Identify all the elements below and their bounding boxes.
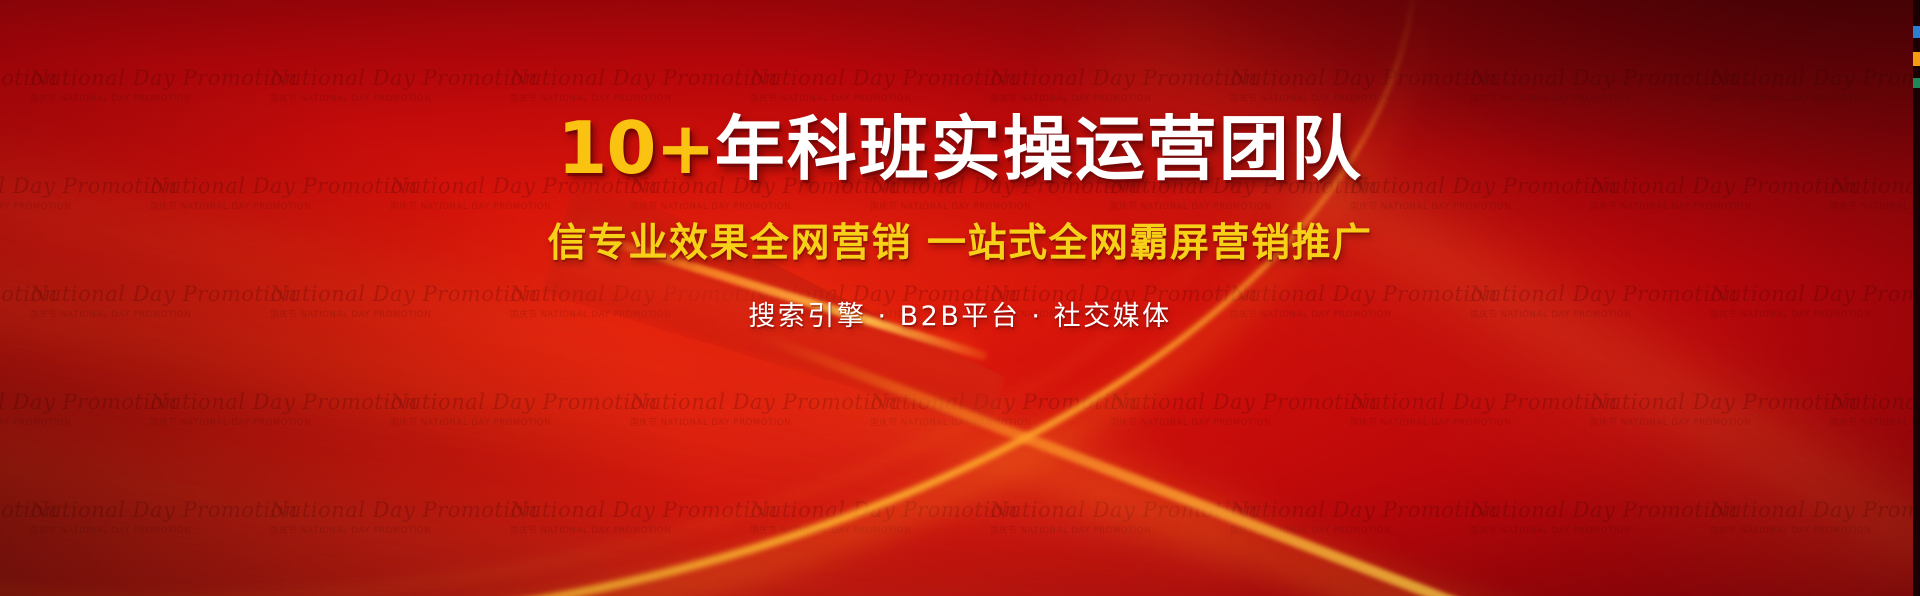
promotional-banner: National Day Promotion国庆节 NATIONAL DAY P… [0,0,1920,596]
headline: 10+年科班实操运营团队 [557,112,1363,184]
tagline-channels: 搜索引擎 · B2B平台 · 社交媒体 [748,294,1171,333]
edge-dot-orange[interactable] [1913,52,1920,66]
right-edge-strip [1913,0,1920,596]
edge-dot-green[interactable] [1913,78,1920,88]
edge-dot-blue[interactable] [1913,26,1920,38]
headline-main-text: 年科班实操运营团队 [715,108,1363,190]
subheadline: 信专业效果全网营销 一站式全网霸屏营销推广 [547,212,1372,268]
headline-years-number: 10+ [557,106,715,190]
